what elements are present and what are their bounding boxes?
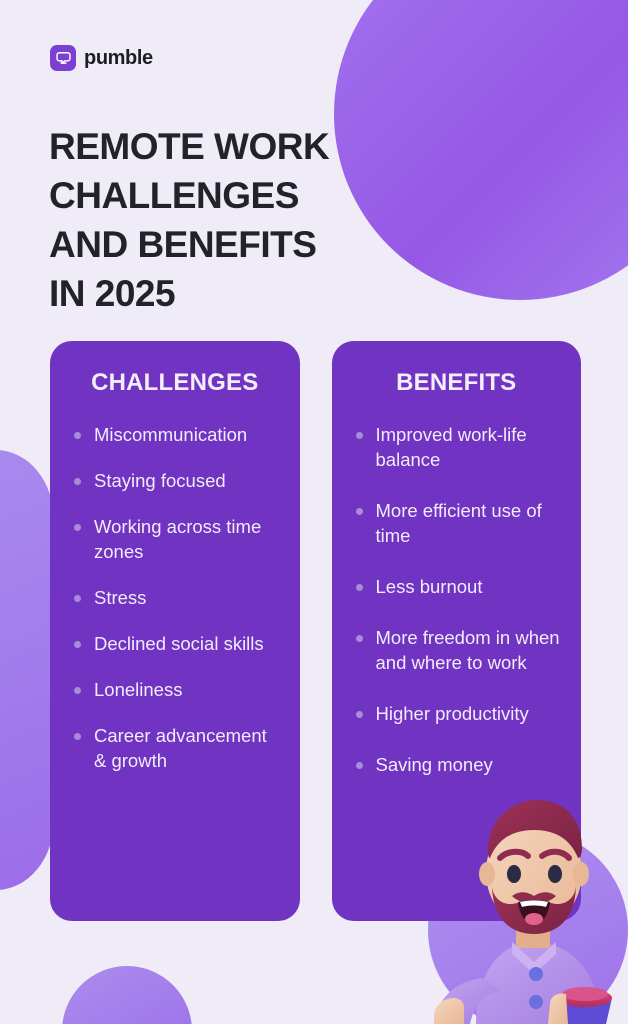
list-item: Stress	[72, 586, 280, 611]
bearded-man-with-coffee-illustration	[430, 792, 628, 1024]
challenges-card-title: CHALLENGES	[66, 369, 284, 397]
challenges-list: Miscommunication Staying focused Working…	[66, 423, 284, 774]
list-item: More freedom in when and where to work	[354, 626, 562, 676]
list-item: More efficient use of time	[354, 499, 562, 549]
list-item: Loneliness	[72, 678, 280, 703]
speech-bubble-icon	[50, 45, 76, 71]
benefits-list: Improved work-life balance More efficien…	[348, 423, 566, 778]
benefits-card-title: BENEFITS	[348, 369, 566, 397]
list-item: Less burnout	[354, 575, 562, 600]
list-item: Staying focused	[72, 469, 280, 494]
brand-name: pumble	[84, 48, 153, 68]
list-item: Miscommunication	[72, 423, 280, 448]
infographic-poster: pumble REMOTE WORK CHALLENGES AND BENEFI…	[0, 0, 628, 1024]
list-item: Working across time zones	[72, 515, 280, 565]
brand-logo: pumble	[50, 45, 153, 71]
list-item: Saving money	[354, 753, 562, 778]
decorative-blob-left	[0, 450, 54, 890]
list-item: Career advancement & growth	[72, 724, 280, 774]
decorative-circle-bottom-left	[62, 966, 192, 1024]
list-item: Higher productivity	[354, 702, 562, 727]
list-item: Declined social skills	[72, 632, 280, 657]
list-item: Improved work-life balance	[354, 423, 562, 473]
page-title: REMOTE WORK CHALLENGES AND BENEFITS IN 2…	[49, 122, 419, 319]
challenges-card: CHALLENGES Miscommunication Staying focu…	[50, 341, 300, 921]
